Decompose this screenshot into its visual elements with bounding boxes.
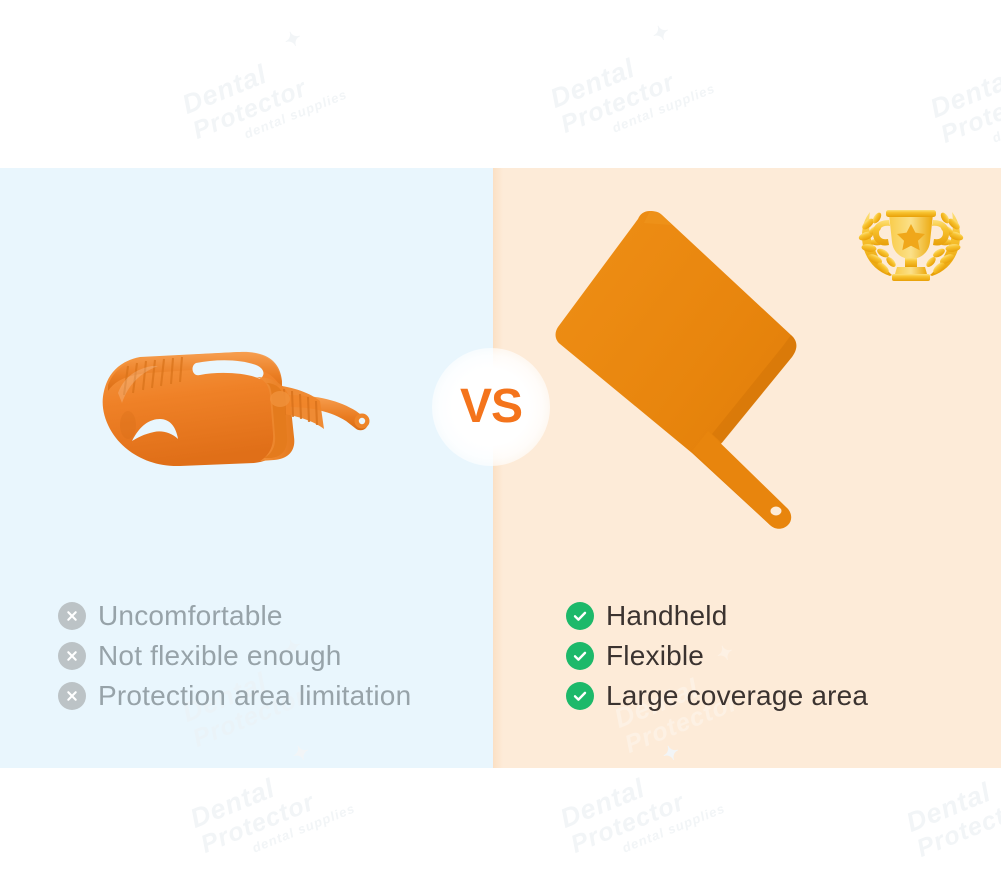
watermark-line-1: Dental xyxy=(902,765,1001,839)
trophy-icon xyxy=(856,198,966,286)
cross-icon xyxy=(58,602,86,630)
check-icon xyxy=(566,682,594,710)
feature-label: Large coverage area xyxy=(606,680,868,712)
watermark-sparkle-icon: ✦ xyxy=(281,25,306,54)
watermark-line-3: dental supplies xyxy=(242,87,349,142)
cross-icon xyxy=(58,642,86,670)
watermark-line-2: Protector xyxy=(567,775,722,860)
list-item: Protection area limitation xyxy=(58,680,411,712)
watermark-line-3: dental supplies xyxy=(250,801,357,856)
list-item: Flexible xyxy=(566,640,868,672)
comparison-graphic: ✦ Dental Protector dental supplies ✦ Den… xyxy=(0,0,1001,877)
watermark-line-2: Protector xyxy=(913,792,1001,864)
feature-label: Handheld xyxy=(606,600,727,632)
watermark-line-1: Dental xyxy=(178,34,334,121)
list-item: Not flexible enough xyxy=(58,640,411,672)
check-icon xyxy=(566,642,594,670)
list-item: Handheld xyxy=(566,600,868,632)
feature-label: Flexible xyxy=(606,640,704,672)
watermark-line-1: Dental xyxy=(546,28,702,115)
watermark-line-2: Protector xyxy=(557,55,712,140)
cross-icon xyxy=(58,682,86,710)
feature-list-left: Uncomfortable Not flexible enough Protec… xyxy=(58,600,411,720)
feature-label: Not flexible enough xyxy=(98,640,342,672)
watermark: ✦ Dental Protector dental supplies xyxy=(546,28,717,153)
watermark: Dental Protector dental supplies xyxy=(926,38,1001,163)
list-item: Uncomfortable xyxy=(58,600,411,632)
watermark: Dental Protector xyxy=(902,765,1001,864)
watermark-line-1: Dental xyxy=(926,38,1001,125)
watermark-line-3: dental supplies xyxy=(990,91,1001,146)
watermark-line-3: dental supplies xyxy=(610,81,717,136)
vs-label: VS xyxy=(460,383,522,431)
watermark-line-2: Protector xyxy=(189,61,344,146)
check-icon xyxy=(566,602,594,630)
watermark: ✦ Dental Protector dental supplies xyxy=(178,34,349,159)
feature-list-right: Handheld Flexible Large coverage area xyxy=(566,600,868,720)
watermark-sparkle-icon: ✦ xyxy=(649,19,674,48)
product-image-safety-goggles xyxy=(88,333,398,483)
vs-badge: VS xyxy=(432,348,550,466)
feature-label: Protection area limitation xyxy=(98,680,411,712)
feature-label: Uncomfortable xyxy=(98,600,283,632)
watermark-line-3: dental supplies xyxy=(620,801,727,856)
watermark-line-2: Protector xyxy=(937,65,1001,150)
watermark-line-2: Protector xyxy=(197,775,352,860)
list-item: Large coverage area xyxy=(566,680,868,712)
